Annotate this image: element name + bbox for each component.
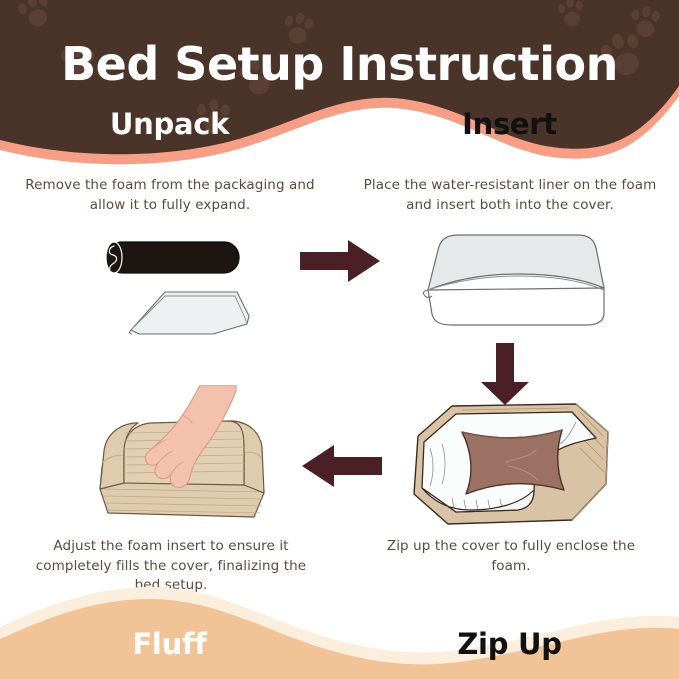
step-label-fluff: Fluff: [0, 630, 339, 659]
illustration-zipup: [400, 398, 625, 533]
footer-wave-shape: [0, 569, 679, 679]
step-label-insert: Insert: [340, 110, 679, 139]
step-caption-insert: Place the water-resistant liner on the f…: [356, 176, 664, 215]
foam-center-shape: [462, 430, 564, 494]
illustration-insert: [418, 228, 613, 338]
rolled-foam-shape: [106, 242, 239, 273]
cover-zipping-over-foam-drawing: [400, 398, 625, 533]
foam-with-liner-drawing: [418, 228, 613, 338]
foam-slab-shape: [428, 288, 604, 325]
instruction-infographic: Bed Setup Instruction Unpack Insert Remo…: [0, 0, 679, 679]
footer-band: [0, 569, 679, 679]
illustration-unpack: [95, 230, 285, 345]
hand-pressing-bed-drawing: [78, 385, 323, 530]
arrow-unpack-to-insert: [296, 234, 384, 288]
illustration-fluff: [78, 385, 323, 530]
rolled-foam-and-liner-drawing: [95, 230, 285, 345]
step-label-zipup: Zip Up: [340, 630, 679, 659]
page-title: Bed Setup Instruction: [0, 41, 679, 87]
arrow-right-icon: [296, 234, 384, 288]
flat-liner-sheet-shape: [130, 292, 249, 334]
step-caption-unpack: Remove the foam from the packaging and a…: [16, 176, 324, 215]
step-label-unpack: Unpack: [0, 110, 339, 139]
